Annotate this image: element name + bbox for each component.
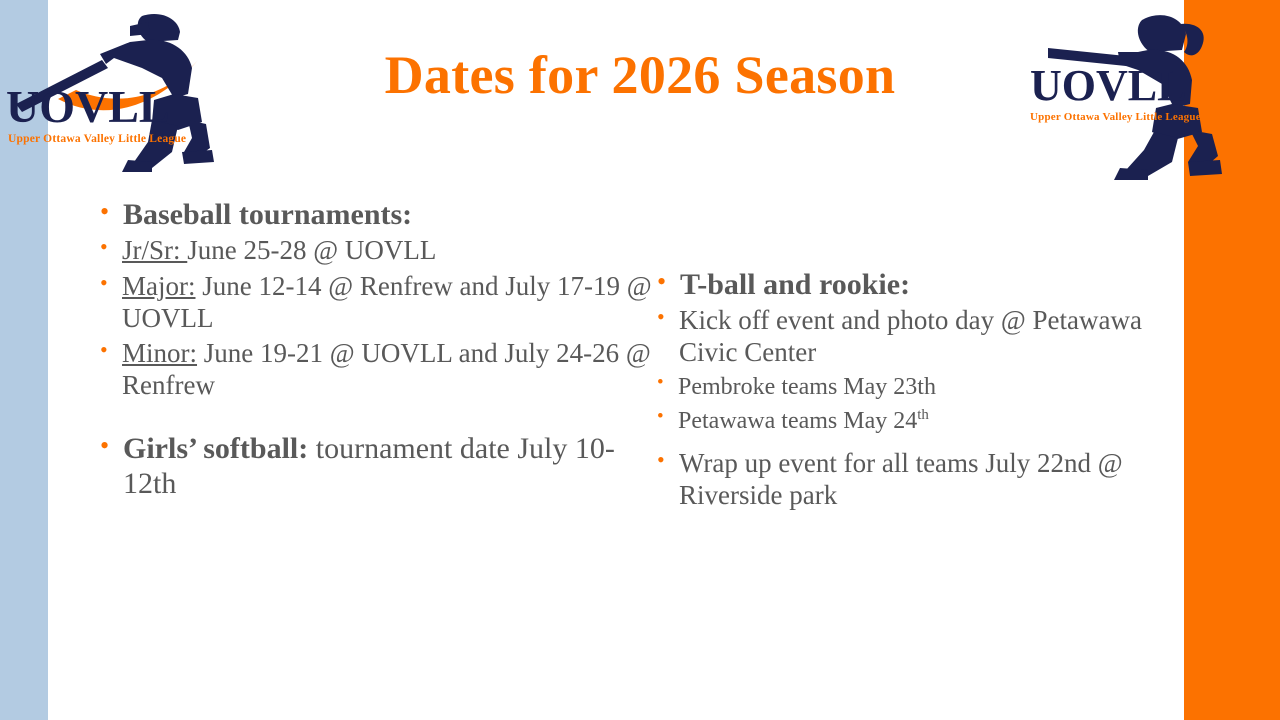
list-item-girls-softball: • Girls’ softball: tournament date July … <box>100 432 660 502</box>
bullet-icon: • <box>657 304 665 330</box>
tball-heading-text: T-ball and rookie: <box>657 268 1187 303</box>
bullet-icon: • <box>100 234 108 260</box>
logo-wordmark-text: UOVLL <box>6 81 170 132</box>
uovll-baseball-logo: UOVLL Upper Ottawa Valley Little League <box>2 2 230 174</box>
bullet-icon: • <box>100 337 108 363</box>
tball-sublist: • Kick off event and photo day @ Petawaw… <box>657 305 1187 512</box>
girls-softball-text: Girls’ softball: tournament date July 10… <box>100 432 660 502</box>
jrsr-text: Jr/Sr: June 25-28 @ UOVLL <box>100 235 660 267</box>
bullet-icon: • <box>100 197 109 227</box>
bullet-icon: • <box>657 372 664 395</box>
tball-heading-label: T-ball and rookie: <box>680 268 910 301</box>
list-item-minor: • Minor: June 19-21 @ UOVLL and July 24-… <box>100 338 660 402</box>
list-item-petawawa-teams: • Petawawa teams May 24th <box>657 407 1187 436</box>
jrsr-detail: June 25-28 @ UOVLL <box>187 235 436 265</box>
right-content-column: • T-ball and rookie: • Kick off event an… <box>657 268 1187 516</box>
minor-text: Minor: June 19-21 @ UOVLL and July 24-26… <box>100 338 660 402</box>
list-item-kickoff: • Kick off event and photo day @ Petawaw… <box>657 305 1187 369</box>
bullet-icon: • <box>100 431 109 461</box>
bullet-icon: • <box>657 406 664 429</box>
jrsr-label: Jr/Sr: <box>122 235 187 265</box>
baseball-list: • Baseball tournaments: • Jr/Sr: June 25… <box>100 198 660 502</box>
major-detail: June 12-14 @ Renfrew and July 17-19 @ UO… <box>122 271 652 333</box>
slide-title: Dates for 2026 Season <box>240 46 1040 104</box>
kickoff-teams-list: • Pembroke teams May 23th • Petawawa tea… <box>657 373 1187 437</box>
list-item-pembroke-teams: • Pembroke teams May 23th <box>657 373 1187 402</box>
list-item-wrapup: • Wrap up event for all teams July 22nd … <box>657 448 1187 512</box>
bullet-icon: • <box>657 267 666 297</box>
baseball-heading-label: Baseball tournaments: <box>123 198 412 231</box>
bullet-icon: • <box>100 270 108 296</box>
list-item-baseball-heading: • Baseball tournaments: <box>100 198 660 233</box>
major-label: Major: <box>122 271 196 301</box>
baseball-sublist: • Jr/Sr: June 25-28 @ UOVLL • Major: Jun… <box>100 235 660 402</box>
girls-softball-label: Girls’ softball: <box>123 432 308 465</box>
list-item-jrsr: • Jr/Sr: June 25-28 @ UOVLL <box>100 235 660 267</box>
baseball-heading-text: Baseball tournaments: <box>100 198 660 233</box>
kickoff-text: Kick off event and photo day @ Petawawa … <box>657 305 1187 369</box>
list-item-major: • Major: June 12-14 @ Renfrew and July 1… <box>100 271 660 335</box>
wrapup-text: Wrap up event for all teams July 22nd @ … <box>657 448 1187 512</box>
pembroke-teams-label: Pembroke teams May 23th <box>678 374 936 400</box>
minor-label: Minor: <box>122 338 197 368</box>
left-content-column: • Baseball tournaments: • Jr/Sr: June 25… <box>100 198 660 504</box>
petawawa-teams-label: Petawawa teams May 24 <box>678 408 917 434</box>
pembroke-teams-text: Pembroke teams May 23th <box>657 373 1187 402</box>
minor-detail: June 19-21 @ UOVLL and July 24-26 @ Renf… <box>122 338 651 400</box>
petawawa-teams-suffix: th <box>917 407 929 423</box>
logo-tagline-text: Upper Ottawa Valley Little League <box>8 133 186 145</box>
bullet-icon: • <box>657 447 665 473</box>
uovll-softball-logo: UOVLL Upper Ottawa Valley Little League <box>1022 4 1256 182</box>
list-item-tball-heading: • T-ball and rookie: <box>657 268 1187 303</box>
slide-canvas: UOVLL Upper Ottawa Valley Little League <box>0 0 1280 720</box>
major-text: Major: June 12-14 @ Renfrew and July 17-… <box>100 271 660 335</box>
petawawa-teams-text: Petawawa teams May 24th <box>657 407 1187 436</box>
tball-rookie-list: • T-ball and rookie: • Kick off event an… <box>657 268 1187 512</box>
logo-tagline-text: Upper Ottawa Valley Little League <box>1030 111 1201 123</box>
logo-wordmark-text: UOVLL <box>1030 61 1186 110</box>
